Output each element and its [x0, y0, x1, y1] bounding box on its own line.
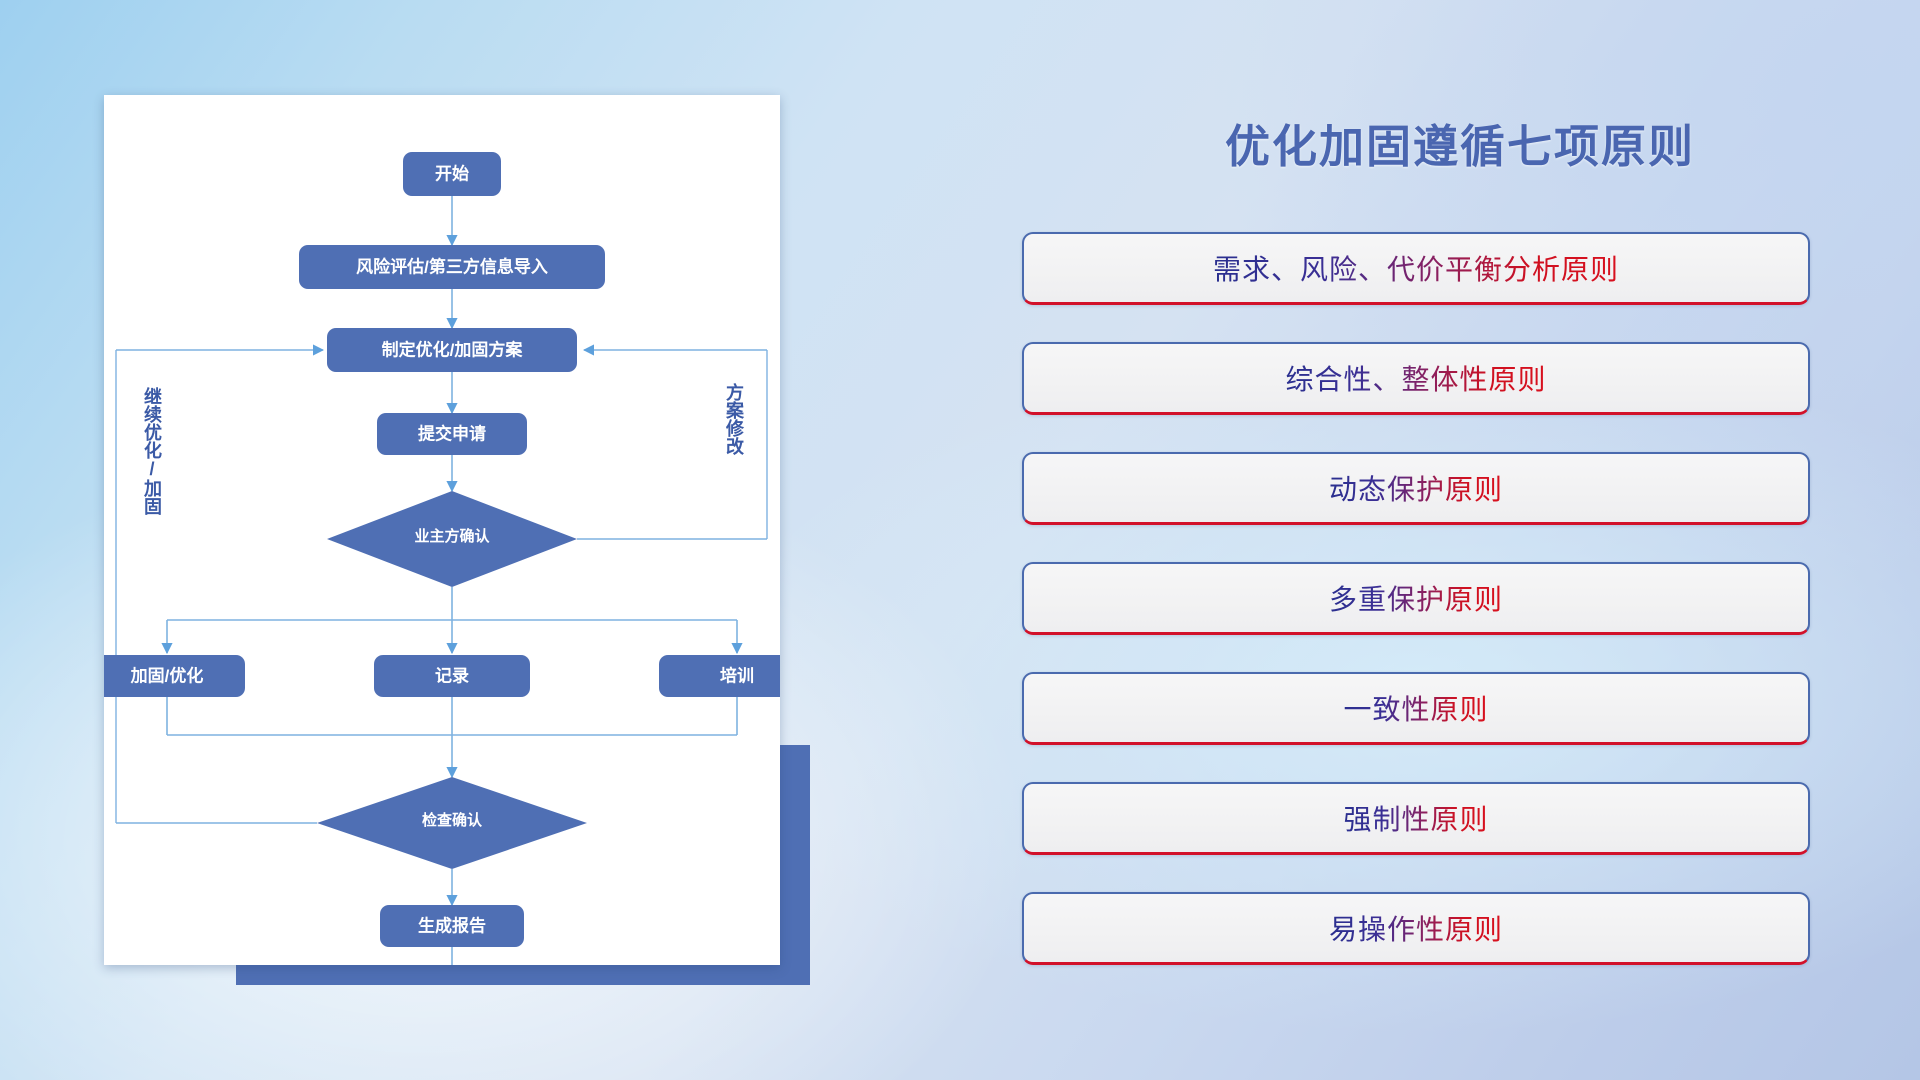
flow-edge-label-plan-revise: 方案修改 — [724, 382, 745, 456]
principle-label: 综合性、整体性原则 — [1285, 358, 1546, 398]
flow-node-check-confirm-label: 检查确认 — [422, 811, 483, 829]
flow-node-check-confirm[interactable]: 检查确认 — [317, 777, 587, 869]
flow-node-plan-label: 制定优化/加固方案 — [382, 339, 524, 359]
principle-card[interactable]: 强制性原则 — [1022, 782, 1810, 855]
principle-card[interactable]: 需求、风险、代价平衡分析原则 — [1022, 232, 1810, 305]
principle-card[interactable]: 综合性、整体性原则 — [1022, 342, 1810, 415]
flow-node-generate-report-label: 生成报告 — [418, 915, 486, 935]
principle-label: 多重保护原则 — [1329, 578, 1503, 618]
flow-node-reinforce[interactable]: 加固/优化 — [104, 655, 245, 697]
flow-node-owner-confirm-label: 业主方确认 — [414, 527, 490, 545]
page-title: 优化加固遵循七项原则 — [1020, 110, 1900, 175]
principles-list: 需求、风险、代价平衡分析原则 综合性、整体性原则 动态保护原则 多重保护原则 一… — [1022, 232, 1810, 1002]
flow-node-submit-label: 提交申请 — [418, 423, 486, 443]
flow-node-training-label: 培训 — [720, 665, 754, 685]
principle-card[interactable]: 多重保护原则 — [1022, 562, 1810, 635]
principle-card[interactable]: 一致性原则 — [1022, 672, 1810, 745]
principle-card[interactable]: 动态保护原则 — [1022, 452, 1810, 525]
flow-node-risk-assessment-label: 风险评估/第三方信息导入 — [356, 256, 548, 276]
flow-node-record[interactable]: 记录 — [374, 655, 530, 697]
principle-label: 动态保护原则 — [1329, 468, 1503, 508]
principle-label: 强制性原则 — [1343, 798, 1488, 838]
principle-label: 易操作性原则 — [1329, 908, 1503, 948]
principle-label: 需求、风险、代价平衡分析原则 — [1213, 248, 1619, 288]
flow-node-reinforce-label: 加固/优化 — [130, 665, 204, 685]
principle-label: 一致性原则 — [1343, 688, 1488, 728]
flow-node-start[interactable]: 开始 — [403, 152, 501, 196]
flow-node-owner-confirm[interactable]: 业主方确认 — [327, 491, 577, 587]
flow-node-training[interactable]: 培训 — [659, 655, 780, 697]
flow-node-generate-report[interactable]: 生成报告 — [380, 905, 524, 947]
flow-node-submit[interactable]: 提交申请 — [377, 413, 527, 455]
flow-node-start-label: 开始 — [435, 163, 469, 183]
principle-card[interactable]: 易操作性原则 — [1022, 892, 1810, 965]
flow-node-record-label: 记录 — [435, 666, 469, 685]
flowchart-card: 开始 风险评估/第三方信息导入 制定优化/加固方案 提交申请 业主方确认 — [104, 95, 780, 965]
flowchart-svg: 开始 风险评估/第三方信息导入 制定优化/加固方案 提交申请 业主方确认 — [104, 95, 780, 965]
flow-node-risk-assessment[interactable]: 风险评估/第三方信息导入 — [299, 245, 605, 289]
flow-edge-label-continue-optimize: 继续优化/加固 — [142, 386, 163, 516]
slide-canvas: 开始 风险评估/第三方信息导入 制定优化/加固方案 提交申请 业主方确认 — [0, 0, 1920, 1080]
flowchart-nodes: 开始 风险评估/第三方信息导入 制定优化/加固方案 提交申请 业主方确认 — [104, 152, 780, 965]
flow-node-plan[interactable]: 制定优化/加固方案 — [327, 328, 577, 372]
